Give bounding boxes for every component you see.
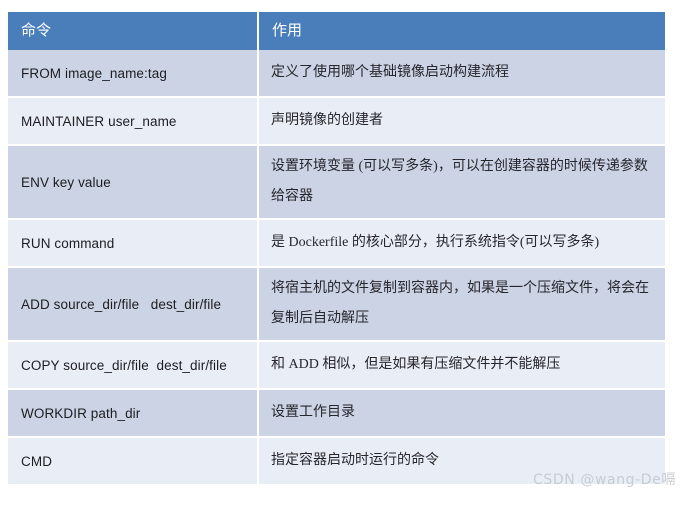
command-text: RUN command — [8, 236, 257, 251]
table-row: RUN command 是 Dockerfile 的核心部分，执行系统指令(可以… — [8, 219, 665, 267]
command-text: WORKDIR path_dir — [8, 406, 257, 421]
description-text: 和 ADD 相似，但是如果有压缩文件并不能解压 — [259, 350, 665, 380]
cell-command: CMD — [8, 437, 258, 485]
cell-description: 设置环境变量 (可以写多条)，可以在创建容器的时候传递参数给容器 — [258, 145, 665, 219]
description-text: 设置工作目录 — [259, 398, 665, 428]
table-row: CMD 指定容器启动时运行的命令 — [8, 437, 665, 485]
command-text: COPY source_dir/file dest_dir/file — [8, 358, 257, 373]
command-text: MAINTAINER user_name — [8, 114, 257, 129]
cell-command: RUN command — [8, 219, 258, 267]
column-header-command: 命令 — [8, 12, 258, 50]
table-row: WORKDIR path_dir 设置工作目录 — [8, 389, 665, 437]
cell-description: 设置工作目录 — [258, 389, 665, 437]
description-text: 定义了使用哪个基础镜像启动构建流程 — [259, 58, 665, 88]
column-header-command-label: 命令 — [8, 12, 257, 50]
cell-description: 声明镜像的创建者 — [258, 97, 665, 145]
command-text: ENV key value — [8, 175, 257, 190]
command-text: ADD source_dir/file dest_dir/file — [8, 297, 257, 312]
cell-description: 是 Dockerfile 的核心部分，执行系统指令(可以写多条) — [258, 219, 665, 267]
command-text: CMD — [8, 454, 257, 469]
column-header-description: 作用 — [258, 12, 665, 50]
cell-command: COPY source_dir/file dest_dir/file — [8, 341, 258, 389]
description-text: 是 Dockerfile 的核心部分，执行系统指令(可以写多条) — [259, 228, 665, 258]
cell-command: ADD source_dir/file dest_dir/file — [8, 267, 258, 341]
table-row: COPY source_dir/file dest_dir/file 和 ADD… — [8, 341, 665, 389]
cell-description: 和 ADD 相似，但是如果有压缩文件并不能解压 — [258, 341, 665, 389]
document-page: 命令 作用 FROM image_name:tag 定义了使用哪个基础镜像启动构… — [0, 0, 682, 505]
cell-description: 将宿主机的文件复制到容器内，如果是一个压缩文件，将会在复制后自动解压 — [258, 267, 665, 341]
command-text: FROM image_name:tag — [8, 66, 257, 81]
table-body: FROM image_name:tag 定义了使用哪个基础镜像启动构建流程 MA… — [8, 50, 665, 485]
cell-command: ENV key value — [8, 145, 258, 219]
table-row: ADD source_dir/file dest_dir/file 将宿主机的文… — [8, 267, 665, 341]
table-row: ENV key value 设置环境变量 (可以写多条)，可以在创建容器的时候传… — [8, 145, 665, 219]
table-header: 命令 作用 — [8, 12, 665, 50]
description-text: 声明镜像的创建者 — [259, 106, 665, 136]
cell-description: 定义了使用哪个基础镜像启动构建流程 — [258, 50, 665, 97]
description-text: 将宿主机的文件复制到容器内，如果是一个压缩文件，将会在复制后自动解压 — [259, 274, 665, 334]
description-text: 指定容器启动时运行的命令 — [259, 446, 665, 476]
table-row: FROM image_name:tag 定义了使用哪个基础镜像启动构建流程 — [8, 50, 665, 97]
dockerfile-commands-table: 命令 作用 FROM image_name:tag 定义了使用哪个基础镜像启动构… — [8, 12, 665, 486]
cell-command: WORKDIR path_dir — [8, 389, 258, 437]
cell-command: MAINTAINER user_name — [8, 97, 258, 145]
table-row: MAINTAINER user_name 声明镜像的创建者 — [8, 97, 665, 145]
description-text: 设置环境变量 (可以写多条)，可以在创建容器的时候传递参数给容器 — [259, 152, 665, 212]
column-header-description-label: 作用 — [259, 12, 665, 50]
dockerfile-commands-table-wrapper: 命令 作用 FROM image_name:tag 定义了使用哪个基础镜像启动构… — [8, 12, 665, 486]
table-header-row: 命令 作用 — [8, 12, 665, 50]
cell-description: 指定容器启动时运行的命令 — [258, 437, 665, 485]
cell-command: FROM image_name:tag — [8, 50, 258, 97]
